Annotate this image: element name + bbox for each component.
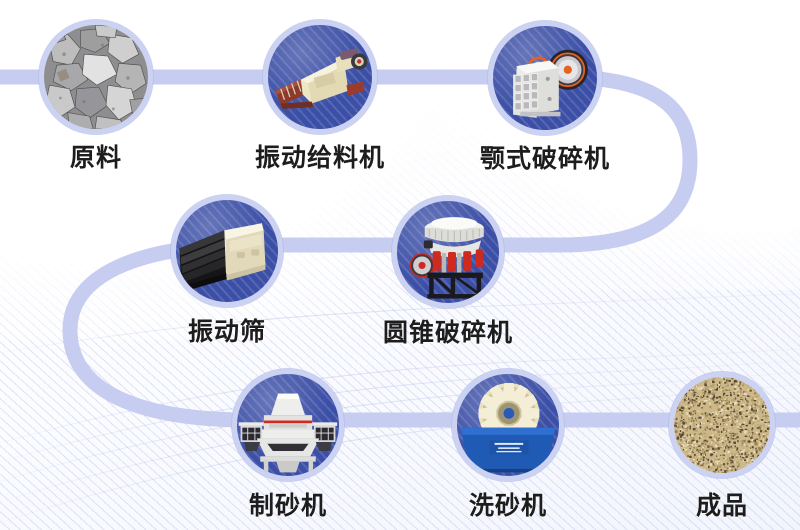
vibrating-screen-disc[interactable] xyxy=(171,195,283,307)
flow-diagram: 原料 xyxy=(0,0,800,530)
gravel-pile-image xyxy=(44,25,148,129)
cone-crusher-disc[interactable] xyxy=(392,196,504,308)
raw-material-disc[interactable] xyxy=(39,20,153,134)
cone-crusher-label: 圆锥破碎机 xyxy=(308,313,588,349)
sand-maker-image xyxy=(237,374,339,476)
sand-washer-disc[interactable] xyxy=(452,369,564,481)
vibrating-feeder-disc[interactable] xyxy=(263,20,377,134)
sand-maker-disc[interactable] xyxy=(232,369,344,481)
jaw-crusher-disc[interactable] xyxy=(488,21,602,135)
vibrating-feeder-image xyxy=(268,25,372,129)
sand-washer-image xyxy=(457,374,559,476)
cone-crusher-image xyxy=(397,201,499,303)
finished-product-label: 成品 xyxy=(582,486,800,522)
finished-sand-image xyxy=(674,377,770,473)
jaw-crusher-image xyxy=(493,26,597,130)
vibrating-screen-image xyxy=(176,200,278,302)
jaw-crusher-label: 颚式破碎机 xyxy=(405,139,685,175)
finished-product-disc[interactable] xyxy=(669,372,775,478)
